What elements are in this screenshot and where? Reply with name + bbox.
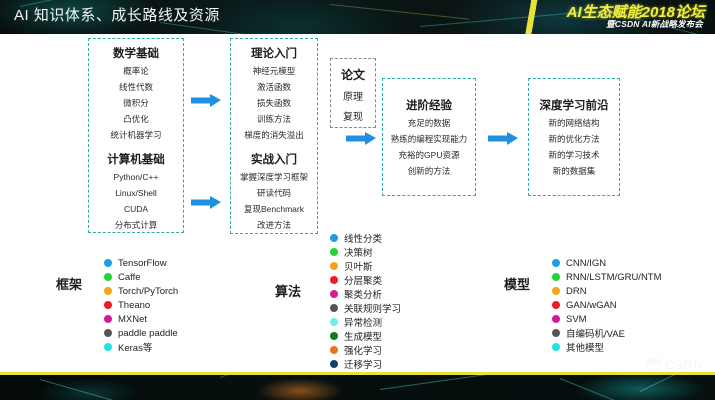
math-foundation-item: 统计机器学习 bbox=[89, 131, 183, 140]
event-logo-subtitle: 暨CSDN AI新战略发布会 bbox=[606, 18, 703, 30]
paper-item: 复现 bbox=[331, 108, 375, 123]
frontier-item: 新的网络结构 bbox=[529, 119, 619, 128]
legend-color-dot bbox=[330, 318, 338, 326]
legend-color-dot bbox=[330, 360, 338, 368]
cs-foundation-group: 计算机基础 Python/C++ Linux/Shell CUDA 分布式计算 bbox=[89, 151, 183, 237]
decorative-streak bbox=[380, 375, 509, 390]
legend-color-dot bbox=[104, 259, 112, 267]
decorative-streak bbox=[330, 4, 469, 20]
cs-foundation-item: CUDA bbox=[89, 205, 183, 214]
legend-color-dot bbox=[330, 262, 338, 270]
legend-item-label: DRN bbox=[566, 286, 587, 297]
arrow-paper-to-advanced bbox=[345, 126, 377, 150]
legend-item: 贝叶斯 bbox=[330, 259, 401, 273]
legend-item-label: SVM bbox=[566, 314, 587, 325]
legend-algorithms-list: 线性分类决策树贝叶斯分层聚类聚类分析关联规则学习异常检测生成模型强化学习迁移学习… bbox=[330, 231, 401, 385]
advanced-experience-item: 充裕的GPU资源 bbox=[383, 151, 475, 160]
advanced-experience-box: 进阶经验 充足的数据 熟练的编程实现能力 充裕的GPU资源 创新的方法 bbox=[382, 78, 476, 196]
legend-algorithms-label: 算法 bbox=[275, 281, 301, 300]
cs-foundation-title: 计算机基础 bbox=[89, 151, 183, 167]
advanced-experience-item: 创新的方法 bbox=[383, 167, 475, 176]
slide-footer bbox=[0, 375, 715, 400]
legend-color-dot bbox=[104, 287, 112, 295]
legend-color-dot bbox=[104, 273, 112, 281]
legend-item: 迁移学习 bbox=[330, 357, 401, 371]
legend-item-label: 分层聚类 bbox=[344, 273, 382, 287]
theory-entry-item: 损失函数 bbox=[231, 99, 317, 108]
practice-entry-title: 实战入门 bbox=[231, 151, 317, 167]
entry-box: 理论入门 神经元模型 激活函数 损失函数 训练方法 梯度的消失溢出 实战入门 掌… bbox=[230, 38, 318, 234]
legend-item: Torch/PyTorch bbox=[104, 284, 178, 298]
legend-color-dot bbox=[552, 301, 560, 309]
paper-title: 论文 bbox=[331, 66, 375, 83]
csdn-bean-icon bbox=[647, 360, 661, 371]
legend-item: CNN/IGN bbox=[552, 256, 662, 270]
arrow-cs-to-practice bbox=[190, 190, 222, 214]
legend-color-dot bbox=[330, 332, 338, 340]
paper-box: 论文 原理 复现 bbox=[330, 58, 376, 128]
legend-frameworks-label: 框架 bbox=[56, 274, 82, 293]
slide-header: AI 知识体系、成长路线及资源 AI生态赋能2018论坛 暨CSDN AI新战略… bbox=[0, 0, 715, 34]
practice-entry-item: 研读代码 bbox=[231, 189, 317, 198]
cs-foundation-item: Linux/Shell bbox=[89, 189, 183, 198]
math-foundation-item: 凸优化 bbox=[89, 115, 183, 124]
legend-color-dot bbox=[330, 346, 338, 354]
legend-color-dot bbox=[104, 343, 112, 351]
legend-item: 聚类分析 bbox=[330, 287, 401, 301]
legend-item-label: MXNet bbox=[118, 314, 147, 325]
legend-item: 关联规则学习 bbox=[330, 301, 401, 315]
frontier-title: 深度学习前沿 bbox=[529, 97, 619, 113]
legend-item-label: paddle paddle bbox=[118, 328, 178, 339]
legend-item-label: 异常检测 bbox=[344, 315, 382, 329]
legend-item-label: Caffe bbox=[118, 272, 141, 283]
legend-item: 生成模型 bbox=[330, 329, 401, 343]
legend-item-label: 生成模型 bbox=[344, 329, 382, 343]
decorative-streak bbox=[420, 12, 579, 27]
advanced-experience-group: 进阶经验 充足的数据 熟练的编程实现能力 充裕的GPU资源 创新的方法 bbox=[383, 97, 475, 183]
practice-entry-item: 掌握深度学习框架 bbox=[231, 173, 317, 182]
decorative-streak bbox=[560, 378, 672, 400]
legend-item: 异常检测 bbox=[330, 315, 401, 329]
slide-canvas: AI 知识体系、成长路线及资源 AI生态赋能2018论坛 暨CSDN AI新战略… bbox=[0, 0, 715, 400]
math-foundation-item: 线性代数 bbox=[89, 83, 183, 92]
decorative-streak bbox=[640, 375, 703, 392]
math-foundation-item: 微积分 bbox=[89, 99, 183, 108]
legend-item-label: 强化学习 bbox=[344, 343, 382, 357]
legend-item: MXNet bbox=[104, 312, 178, 326]
frontier-item: 新的优化方法 bbox=[529, 135, 619, 144]
legend-item: paddle paddle bbox=[104, 326, 178, 340]
legend-item: 自编码机/VAE bbox=[552, 326, 662, 340]
legend-color-dot bbox=[552, 287, 560, 295]
frontier-box: 深度学习前沿 新的网络结构 新的优化方法 新的学习技术 新的数据集 bbox=[528, 78, 620, 196]
frontier-item: 新的学习技术 bbox=[529, 151, 619, 160]
theory-entry-item: 梯度的消失溢出 bbox=[231, 131, 317, 140]
theory-entry-item: 训练方法 bbox=[231, 115, 317, 124]
legend-item-label: TensorFlow bbox=[118, 258, 167, 269]
legend-color-dot bbox=[104, 301, 112, 309]
arrow-advanced-to-frontier bbox=[487, 126, 519, 150]
legend-item-label: 迁移学习 bbox=[344, 357, 382, 371]
cs-foundation-item: Python/C++ bbox=[89, 173, 183, 182]
legend-item: Caffe bbox=[104, 270, 178, 284]
frontier-group: 深度学习前沿 新的网络结构 新的优化方法 新的学习技术 新的数据集 bbox=[529, 97, 619, 183]
csdn-watermark: CSDN bbox=[647, 358, 703, 372]
theory-entry-item: 神经元模型 bbox=[231, 67, 317, 76]
advanced-experience-title: 进阶经验 bbox=[383, 97, 475, 113]
legend-color-dot bbox=[552, 315, 560, 323]
csdn-watermark-text: CSDN bbox=[665, 358, 703, 372]
legend-color-dot bbox=[330, 248, 338, 256]
theory-entry-title: 理论入门 bbox=[231, 45, 317, 61]
math-foundation-item: 概率论 bbox=[89, 67, 183, 76]
legend-color-dot bbox=[552, 329, 560, 337]
legend-item-label: RNN/LSTM/GRU/NTM bbox=[566, 272, 662, 283]
advanced-experience-item: 熟练的编程实现能力 bbox=[383, 135, 475, 144]
legend-item-label: 线性分类 bbox=[344, 231, 382, 245]
arrow-math-to-theory bbox=[190, 88, 222, 112]
legend-color-dot bbox=[330, 276, 338, 284]
legend-item-label: 自编码机/VAE bbox=[566, 326, 625, 340]
theory-entry-item: 激活函数 bbox=[231, 83, 317, 92]
legend-item-label: CNN/IGN bbox=[566, 258, 606, 269]
paper-item: 原理 bbox=[331, 88, 375, 103]
legend-item-label: Torch/PyTorch bbox=[118, 286, 178, 297]
theory-entry-group: 理论入门 神经元模型 激活函数 损失函数 训练方法 梯度的消失溢出 bbox=[231, 45, 317, 147]
legend-item-label: 其他模型 bbox=[566, 340, 604, 354]
legend-item-label: Theano bbox=[118, 300, 150, 311]
page-title: AI 知识体系、成长路线及资源 bbox=[14, 4, 220, 25]
legend-item-label: 决策树 bbox=[344, 245, 373, 259]
legend-item-label: 聚类分析 bbox=[344, 287, 382, 301]
legend-item: Keras等 bbox=[104, 340, 178, 354]
legend-color-dot bbox=[330, 304, 338, 312]
legend-models-list: CNN/IGNRNN/LSTM/GRU/NTMDRNGAN/wGANSVM自编码… bbox=[552, 256, 662, 354]
legend-item: 决策树 bbox=[330, 245, 401, 259]
legend-color-dot bbox=[330, 290, 338, 298]
legend-item: Theano bbox=[104, 298, 178, 312]
decorative-streak bbox=[220, 375, 286, 378]
legend-item: RNN/LSTM/GRU/NTM bbox=[552, 270, 662, 284]
legend-item: 强化学习 bbox=[330, 343, 401, 357]
legend-color-dot bbox=[104, 329, 112, 337]
advanced-experience-item: 充足的数据 bbox=[383, 119, 475, 128]
legend-models-label: 模型 bbox=[504, 274, 530, 293]
foundations-box: 数学基础 概率论 线性代数 微积分 凸优化 统计机器学习 计算机基础 Pytho… bbox=[88, 38, 184, 233]
legend-item: 线性分类 bbox=[330, 231, 401, 245]
legend-item-label: GAN/wGAN bbox=[566, 300, 617, 311]
legend-frameworks-list: TensorFlowCaffeTorch/PyTorchTheanoMXNetp… bbox=[104, 256, 178, 354]
legend-item: DRN bbox=[552, 284, 662, 298]
legend-item: 其他模型 bbox=[552, 340, 662, 354]
legend-item-label: 关联规则学习 bbox=[344, 301, 401, 315]
frontier-item: 新的数据集 bbox=[529, 167, 619, 176]
legend-color-dot bbox=[330, 234, 338, 242]
decorative-streak bbox=[40, 379, 146, 400]
legend-color-dot bbox=[552, 259, 560, 267]
legend-color-dot bbox=[104, 315, 112, 323]
legend-item-label: 贝叶斯 bbox=[344, 259, 373, 273]
legend-item-label: Keras等 bbox=[118, 340, 152, 354]
practice-entry-item: 复现Benchmark bbox=[231, 205, 317, 214]
legend-item: TensorFlow bbox=[104, 256, 178, 270]
cs-foundation-item: 分布式计算 bbox=[89, 221, 183, 230]
practice-entry-group: 实战入门 掌握深度学习框架 研读代码 复现Benchmark 改进方法 bbox=[231, 151, 317, 237]
legend-color-dot bbox=[552, 343, 560, 351]
legend-item: GAN/wGAN bbox=[552, 298, 662, 312]
legend-color-dot bbox=[552, 273, 560, 281]
legend-item: 分层聚类 bbox=[330, 273, 401, 287]
math-foundation-group: 数学基础 概率论 线性代数 微积分 凸优化 统计机器学习 bbox=[89, 45, 183, 147]
legend-item: SVM bbox=[552, 312, 662, 326]
math-foundation-title: 数学基础 bbox=[89, 45, 183, 61]
practice-entry-item: 改进方法 bbox=[231, 221, 317, 230]
